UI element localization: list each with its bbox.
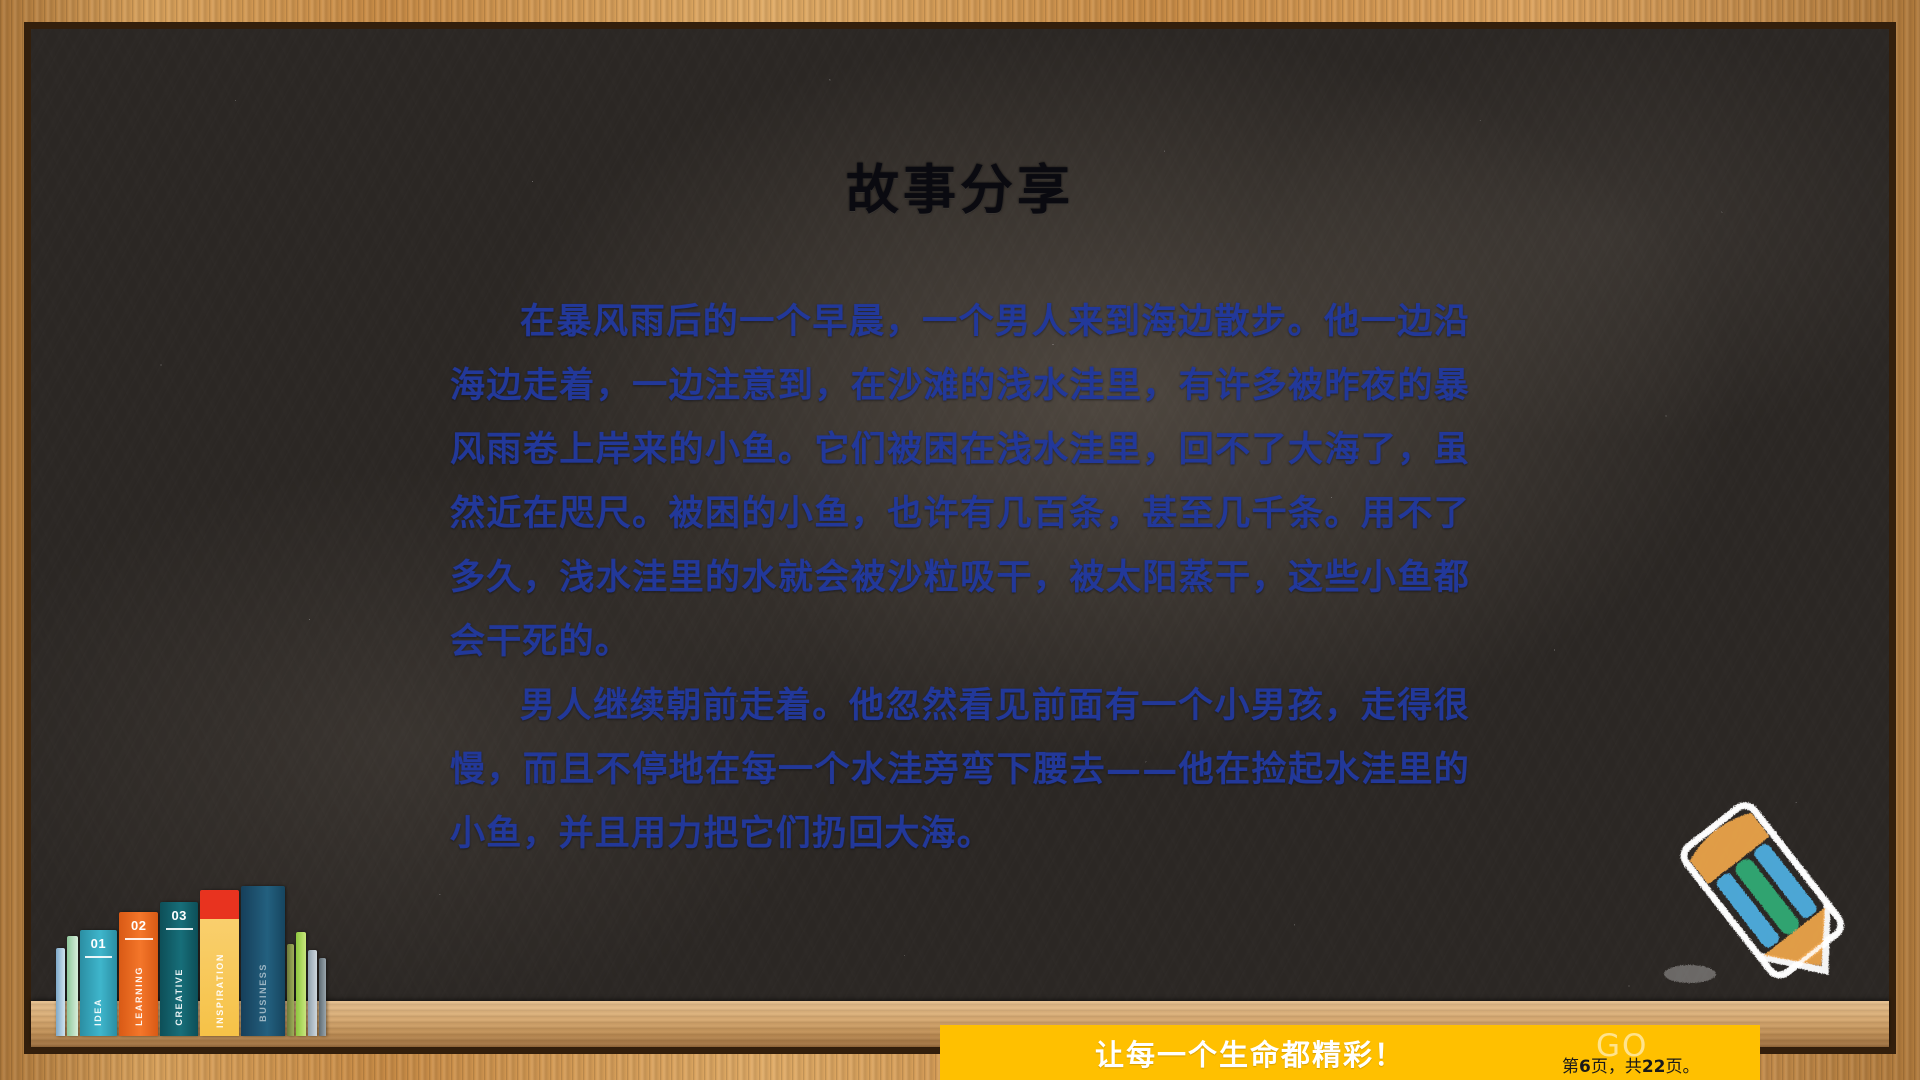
- book-label: INSPIRATION: [215, 953, 225, 1028]
- book-label: LEARNING: [134, 966, 144, 1026]
- book-inspiration: INSPIRATION: [200, 890, 239, 1036]
- book-rule: [166, 928, 193, 930]
- footer-slogan-banner: 让每一个生命都精彩！: [940, 1025, 1560, 1080]
- book-spine-thin-a: [56, 948, 65, 1036]
- story-body: 在暴风雨后的一个早晨，一个男人来到海边散步。他一边沿海边走着，一边注意到，在沙滩…: [450, 290, 1470, 866]
- slide-content: 故事分享 在暴风雨后的一个早晨，一个男人来到海边散步。他一边沿海边走着，一边注意…: [0, 0, 1920, 1080]
- book-number: 01: [91, 936, 106, 951]
- book-spine-thin-d: [296, 932, 306, 1036]
- book-number: 03: [171, 908, 186, 923]
- footer-slogan-text: 让每一个生命都精彩！: [1095, 1032, 1405, 1074]
- page-suffix: 页。: [1666, 1057, 1700, 1077]
- book-rule: [125, 938, 153, 940]
- book-business: BUSINESS: [241, 886, 284, 1036]
- chalk-pencil-icon: [1652, 778, 1882, 1008]
- book-spine-thin-f: [319, 958, 326, 1036]
- page-current: 6: [1579, 1057, 1591, 1077]
- book-spine-thin-e: [308, 950, 317, 1036]
- book-02-learning: 02 LEARNING: [119, 912, 158, 1036]
- page-title: 故事分享: [0, 148, 1920, 224]
- page-number: 第6页，共22页。: [1562, 1052, 1700, 1077]
- page-total: 22: [1642, 1057, 1666, 1077]
- book-01-idea: 01 IDEA: [80, 930, 117, 1036]
- book-rule: [85, 956, 112, 958]
- page-mid: 页，共: [1591, 1057, 1642, 1077]
- book-label: BUSINESS: [258, 963, 268, 1022]
- story-paragraph-2: 男人继续朝前走着。他忽然看见前面有一个小男孩，走得很慢，而且不停地在每一个水洼旁…: [450, 674, 1470, 866]
- story-paragraph-1: 在暴风雨后的一个早晨，一个男人来到海边散步。他一边沿海边走着，一边注意到，在沙滩…: [450, 290, 1470, 674]
- book-number: 02: [131, 918, 146, 933]
- book-03-creative: 03 CREATIVE: [160, 902, 197, 1036]
- bookshelf-icon: 01 IDEA 02 LEARNING 03 CREATIVE INSPIRAT…: [56, 896, 326, 1036]
- page-prefix: 第: [1562, 1057, 1579, 1077]
- book-label: IDEA: [93, 998, 103, 1026]
- book-label: CREATIVE: [174, 968, 184, 1026]
- page-indicator-box: GO 第6页，共22页。: [1560, 1025, 1760, 1080]
- slide-canvas: 故事分享 在暴风雨后的一个早晨，一个男人来到海边散步。他一边沿海边走着，一边注意…: [0, 0, 1920, 1080]
- book-spine-thin-c: [287, 944, 295, 1036]
- book-spine-thin-b: [67, 936, 78, 1036]
